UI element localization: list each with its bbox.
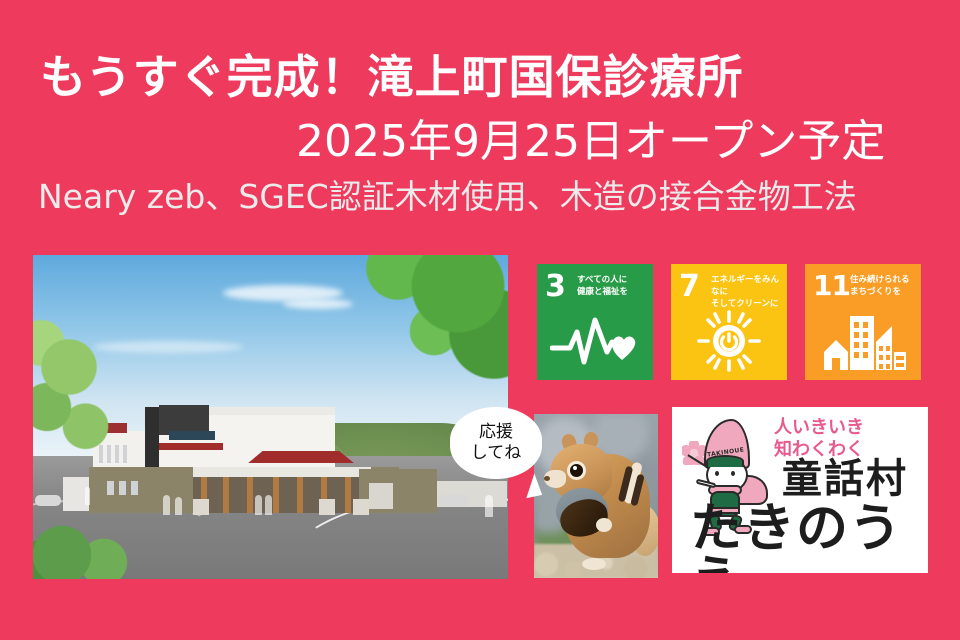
figure-person — [85, 487, 90, 505]
heartbeat-icon — [537, 310, 653, 372]
building-window — [119, 481, 126, 495]
logo-tagline-line-1: 人いきいき — [774, 417, 920, 439]
city-buildings-icon — [805, 310, 921, 372]
sun-power-icon — [671, 310, 787, 372]
sdg-number: 3 — [545, 272, 566, 302]
tree-left — [33, 311, 135, 471]
figure-person — [175, 497, 182, 515]
sdg-number: 7 — [679, 272, 700, 302]
building-window — [131, 481, 138, 495]
parked-car — [35, 495, 61, 506]
entrance-canopy — [193, 467, 371, 477]
tree-right — [318, 255, 508, 391]
canopy-pedestal — [193, 499, 209, 515]
sdg-goal-7: 7 エネルギーをみんなに そしてクリーンに — [671, 264, 787, 380]
sdg-goal-row: 3 すべての人に 健康と福祉を 7 エネルギーをみんなに そしてクリーンに — [537, 264, 921, 380]
canopy-pedestal — [353, 499, 369, 515]
mascot-hair — [706, 455, 744, 467]
entrance-column — [273, 477, 279, 513]
sdg-caption-line-2: そしてクリーンに — [711, 298, 783, 310]
cherry-blossom-icon — [682, 441, 706, 465]
figure-person — [265, 495, 272, 515]
speech-bubble: 応援 してね — [450, 407, 542, 479]
chipmunk-photo — [534, 414, 658, 578]
sdg-caption-line-1: 住み続けられる — [850, 274, 917, 286]
figure-person — [485, 495, 493, 517]
sdg-caption: 住み続けられる まちづくりを — [850, 274, 917, 298]
mascot-eye — [731, 471, 735, 476]
sdg-number: 11 — [813, 272, 850, 300]
building-window — [169, 431, 215, 440]
parked-car — [439, 495, 469, 506]
canopy-pedestal — [319, 499, 335, 515]
speech-bubble-line-2: してね — [471, 443, 522, 464]
chipmunk-paw — [596, 518, 612, 532]
headline-line-3: Neary zeb、SGEC認証木材使用、木造の接合金物工法 — [38, 180, 857, 213]
takinoue-town-logo: TAKINOUE 人いきいき 知わくわく 童話村 たきのうえ — [672, 407, 928, 573]
mascot-eye — [715, 471, 719, 476]
secondary-entrance — [369, 483, 393, 509]
logo-word-takinoue: たきのうえ — [690, 503, 928, 573]
entrance-column — [247, 477, 253, 513]
sdg-goal-11: 11 住み続けられる まちづくりを — [805, 264, 921, 380]
sdg-caption-line-2: まちづくりを — [850, 286, 917, 298]
sdg-caption: エネルギーをみんなに そしてクリーンに — [711, 274, 783, 310]
sdg-goal-3: 3 すべての人に 健康と福祉を — [537, 264, 653, 380]
entrance-column — [345, 477, 351, 513]
headline-line-2: 2025年9月25日オープン予定 — [296, 120, 885, 164]
speech-bubble-line-1: 応援 — [479, 422, 513, 443]
building-red-band — [159, 443, 223, 450]
building-parapet — [209, 407, 335, 415]
entrance-column — [223, 477, 229, 513]
chipmunk-eye-highlight — [573, 466, 577, 470]
figure-person — [255, 495, 262, 515]
sdg-caption: すべての人に 健康と福祉を — [577, 274, 649, 298]
logo-word-douwamura: 童話村 — [782, 459, 908, 499]
sdg-caption-line-1: すべての人に — [577, 274, 649, 286]
poster-canvas: もうすぐ完成！滝上町国保診療所 2025年9月25日オープン予定 Neary z… — [0, 0, 960, 640]
entrance-column — [297, 477, 303, 513]
bush-foreground — [33, 525, 153, 579]
headline-line-1: もうすぐ完成！滝上町国保診療所 — [40, 54, 744, 100]
clinic-render-photo — [33, 255, 508, 579]
chipmunk-paw — [582, 558, 606, 570]
figure-person — [163, 495, 170, 515]
building-window — [107, 481, 114, 495]
sdg-caption-line-2: 健康と福祉を — [577, 286, 649, 298]
sdg-caption-line-1: エネルギーをみんなに — [711, 274, 783, 298]
